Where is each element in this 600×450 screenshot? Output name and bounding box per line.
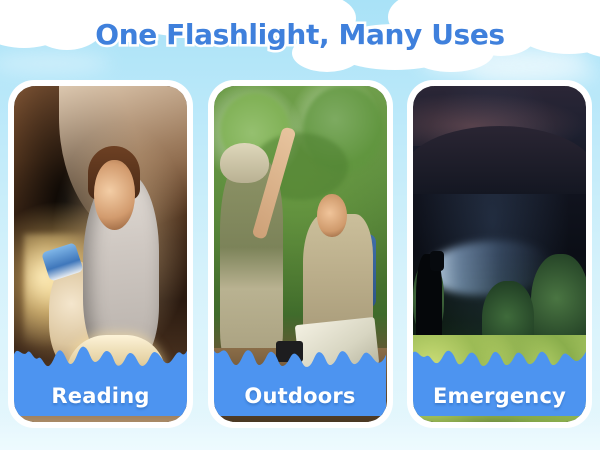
bucket-hat <box>220 143 268 183</box>
feature-card-reading[interactable]: Reading <box>8 80 193 428</box>
feature-card-row: Reading <box>0 80 600 436</box>
card-label-outdoors: Outdoors <box>214 384 387 408</box>
poster: One Flashlight, Many Uses <box>0 0 600 450</box>
card-label-reading: Reading <box>14 384 187 408</box>
card-photo-frame: Outdoors <box>214 86 387 422</box>
card-photo-frame: Emergency <box>413 86 586 422</box>
card-caption-band-outdoors: Outdoors <box>214 330 387 422</box>
raised-hand <box>430 251 444 271</box>
page-title: One Flashlight, Many Uses <box>0 18 600 51</box>
cloud-haze <box>0 52 110 74</box>
feature-card-outdoors[interactable]: Outdoors <box>208 80 393 428</box>
card-label-emergency: Emergency <box>413 384 586 408</box>
page-title-text: One Flashlight, Many Uses <box>95 18 504 51</box>
card-caption-band-reading: Reading <box>14 330 187 422</box>
mountain-ridge <box>413 126 586 193</box>
feature-card-emergency[interactable]: Emergency <box>407 80 592 428</box>
card-caption-band-emergency: Emergency <box>413 330 586 422</box>
child-head <box>317 194 346 238</box>
child-head <box>94 160 136 231</box>
card-photo-frame: Reading <box>14 86 187 422</box>
